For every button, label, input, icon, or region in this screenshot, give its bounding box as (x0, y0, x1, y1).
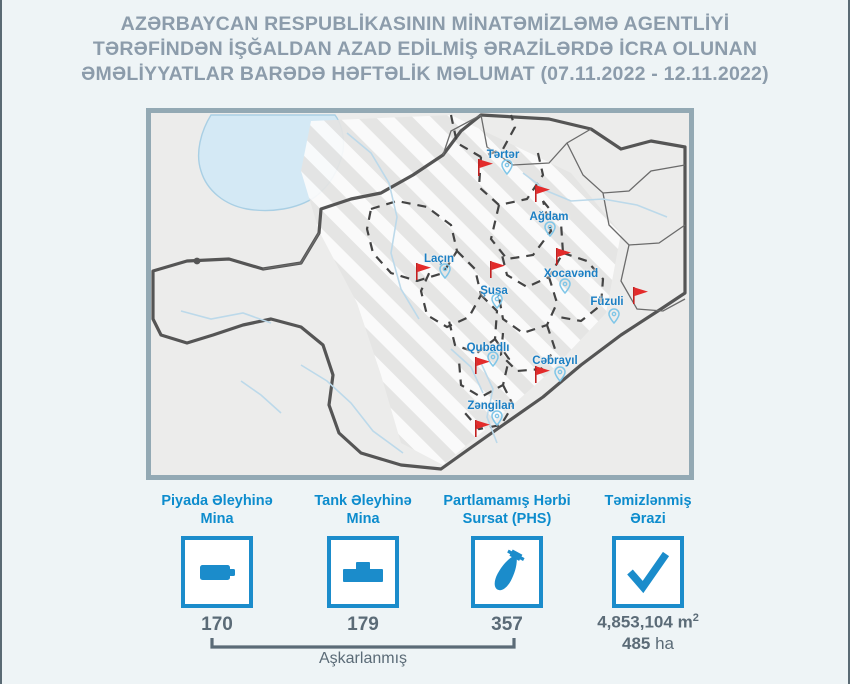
map-pin-qubadlı (487, 351, 499, 367)
legend-item-anti-personnel-mine[interactable]: Piyada Əleyhinə Mina 170 (137, 492, 297, 636)
flag-marker-laçın (414, 261, 432, 281)
cleared-area-m2-value: 4,853,104 (597, 613, 673, 632)
legend-value: 170 (137, 614, 297, 636)
detected-bracket (210, 638, 516, 650)
legend-item-anti-tank-mine[interactable]: Tank Əleyhinə Mina 179 (283, 492, 443, 636)
map-pin-şuşa (491, 293, 503, 309)
map-pin-füzuli (608, 308, 620, 324)
map-vector (151, 113, 689, 475)
cleared-area-m2: 4,853,104 m2 (568, 608, 728, 633)
city-label-xocavənd: Xocavənd (544, 268, 598, 280)
city-label-füzuli: Füzuli (590, 296, 623, 308)
map-container[interactable]: TərtərAğdamLaçınŞuşaXocavəndFüzuliQubadl… (146, 108, 694, 480)
checkmark-icon (625, 549, 671, 595)
legend-icon-box (612, 536, 684, 608)
page-title: AZƏRBAYCAN RESPUBLİKASININ MİNATƏMİZLƏMƏ… (2, 0, 848, 91)
cleared-area-ha-value: 485 (622, 634, 650, 653)
legend-icon-box (181, 536, 253, 608)
legend-title: Partlamamış Hərbi Sursat (PHS) (427, 492, 587, 528)
unexploded-ordnance-icon (484, 549, 530, 595)
map-point-marker (194, 258, 201, 265)
cleared-area-ha-unit: ha (655, 634, 674, 653)
cleared-area-m2-sup: 2 (693, 612, 699, 624)
title-line-3: ƏMƏLİYYATLAR BARƏDƏ HƏFTƏLİK MƏLUMAT (07… (22, 62, 828, 87)
legend-title: Təmizlənmiş Ərazi (568, 492, 728, 528)
flag-marker-xocavənd (554, 246, 572, 266)
flag-marker-zəngilan (473, 418, 491, 438)
legend-title: Piyada Əleyhinə Mina (137, 492, 297, 528)
flag-marker-tərtər (476, 157, 494, 177)
legend-icon-box (471, 536, 543, 608)
map-pin-laçın (439, 263, 451, 279)
flag-marker-ağdam (533, 183, 551, 203)
cleared-area-m2-unit: m (678, 613, 693, 632)
map-pin-zəngilan (491, 410, 503, 426)
legend-item-unexploded-ordnance[interactable]: Partlamamış Hərbi Sursat (PHS) 357 (427, 492, 587, 636)
legend-icon-box (327, 536, 399, 608)
legend-panel: Piyada Əleyhinə Mina 170 Tank Əleyhinə M… (2, 492, 850, 642)
flag-marker-cəbrayıl (533, 364, 551, 384)
legend-value: 357 (427, 614, 587, 636)
map-pin-ağdam (544, 221, 556, 237)
map-pin-xocavənd (559, 278, 571, 294)
map-pin-cəbrayıl (554, 366, 566, 382)
legend-item-cleared-territory[interactable]: Təmizlənmiş Ərazi 4,853,104 m2 485 ha (568, 492, 728, 654)
anti-personnel-mine-icon (194, 549, 240, 595)
cleared-area-ha: 485 ha (568, 633, 728, 654)
legend-title: Tank Əleyhinə Mina (283, 492, 443, 528)
anti-tank-mine-icon (340, 549, 386, 595)
legend-value: 179 (283, 614, 443, 636)
title-line-2: TƏRƏFİNDƏN İŞĞALDAN AZAD EDİLMİŞ ƏRAZİLƏ… (22, 37, 828, 62)
detected-bracket-label: Aşkarlanmış (210, 650, 516, 668)
title-line-1: AZƏRBAYCAN RESPUBLİKASININ MİNATƏMİZLƏMƏ… (22, 12, 828, 37)
map-pin-tərtər (501, 159, 513, 175)
map-canvas: TərtərAğdamLaçınŞuşaXocavəndFüzuliQubadl… (151, 113, 689, 475)
flag-marker-füzuli (631, 285, 649, 305)
flag-marker-şuşa (488, 259, 506, 279)
